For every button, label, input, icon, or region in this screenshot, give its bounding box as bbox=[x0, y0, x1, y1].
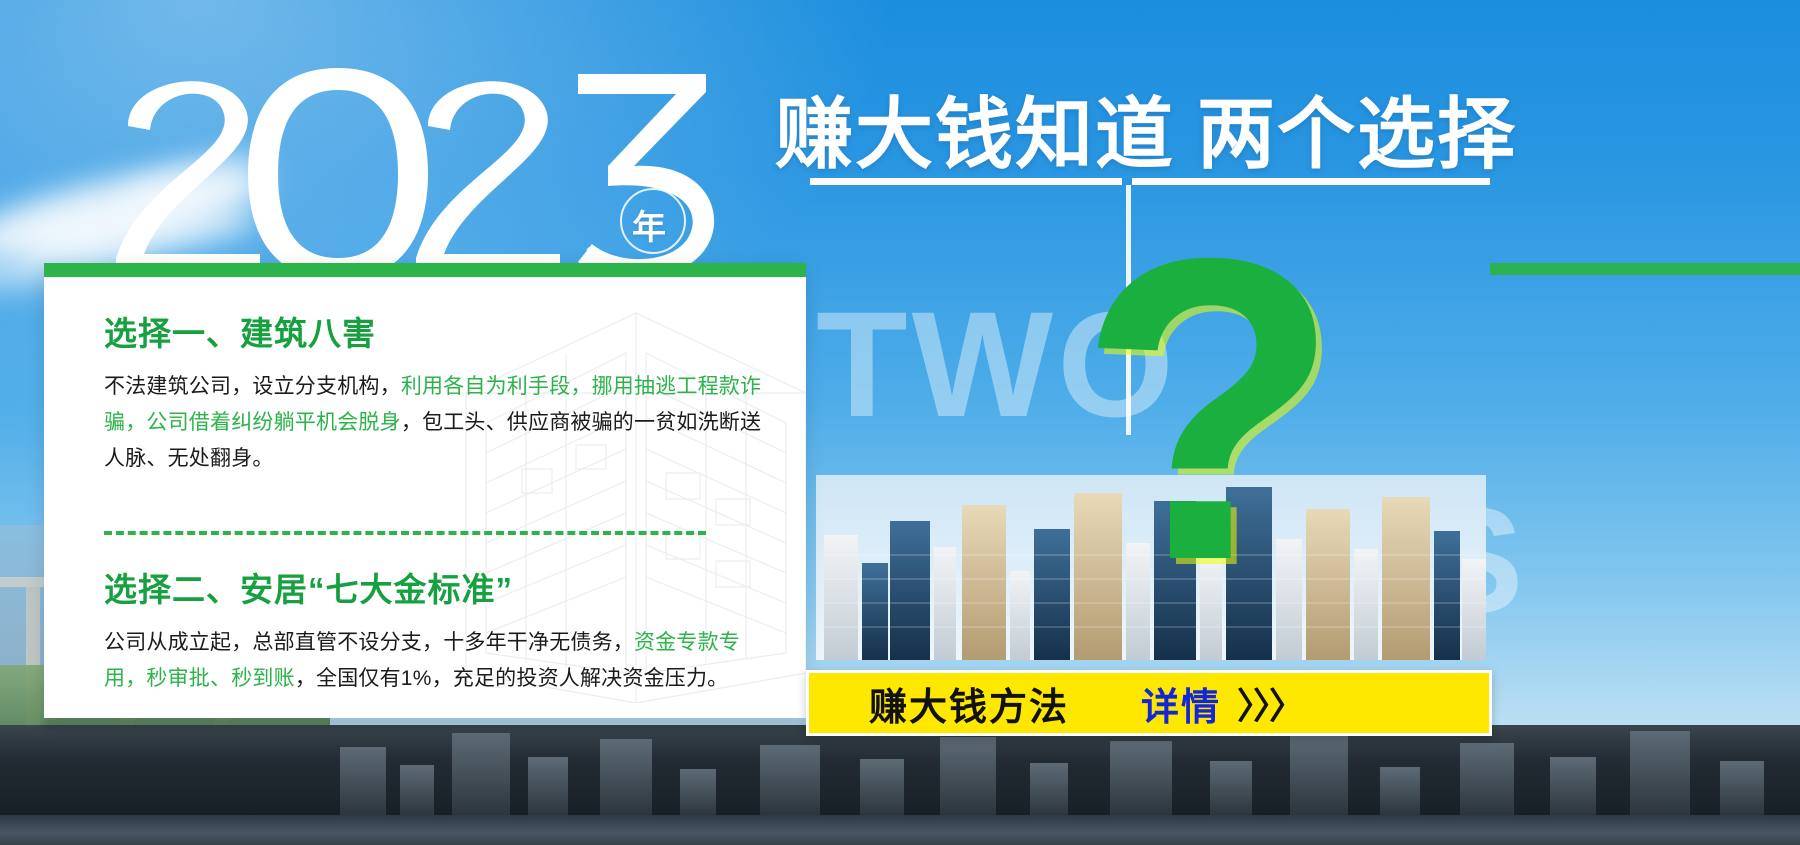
building-silhouette bbox=[940, 737, 996, 817]
building-silhouette bbox=[1550, 757, 1596, 817]
green-edge-accent bbox=[1490, 263, 1800, 275]
building-silhouette bbox=[600, 739, 652, 817]
building-silhouette bbox=[1460, 743, 1514, 817]
chevron-right-icon: 〉〉〉 bbox=[1237, 677, 1303, 729]
building-silhouette bbox=[1210, 761, 1252, 817]
section-one: 选择一、建筑八害 不法建筑公司，设立分支机构，利用各自为利手段，挪用抽逃工程款诈… bbox=[104, 307, 778, 477]
cta-bar[interactable]: 赚大钱方法 详情 〉〉〉 bbox=[806, 670, 1492, 736]
section-two: 选择二、安居“七大金标准” 公司从成立起，总部直管不设分支，十多年干净无债务，资… bbox=[104, 563, 778, 697]
year-suffix-circle bbox=[620, 188, 686, 254]
building-silhouette bbox=[1030, 763, 1068, 817]
question-mark-icon: ? bbox=[1078, 195, 1341, 625]
right-visual-panel: TWO CHOICES bbox=[810, 185, 1490, 660]
section-one-title: 选择一、建筑八害 bbox=[104, 307, 778, 355]
building-silhouette bbox=[760, 745, 820, 817]
section-two-text-a: 公司从成立起，总部直管不设分支，十多年干净无债务， bbox=[104, 631, 634, 654]
card-shadow bbox=[44, 718, 806, 728]
building-silhouette bbox=[400, 765, 434, 817]
section-two-text-c: ，全国仅有1%，充足的投资人解决资金压力。 bbox=[295, 667, 729, 690]
promo-banner: 年 赚大钱知道两个选择 TWO CHOICES bbox=[0, 0, 1800, 845]
card-top-green-bar bbox=[44, 263, 806, 277]
headline-part-2: 两个选择 bbox=[1197, 90, 1517, 178]
building-silhouette bbox=[452, 733, 510, 817]
building-silhouette bbox=[340, 747, 386, 817]
building-silhouette bbox=[1720, 761, 1764, 817]
water-reflection bbox=[0, 815, 1800, 845]
year-suffix: 年 bbox=[632, 200, 667, 249]
building-silhouette bbox=[1380, 767, 1420, 817]
section-two-body: 公司从成立起，总部直管不设分支，十多年干净无债务，资金专款专用，秒审批、秒到账，… bbox=[104, 625, 778, 697]
building-silhouette bbox=[1290, 735, 1348, 817]
content-card: 选择一、建筑八害 不法建筑公司，设立分支机构，利用各自为利手段，挪用抽逃工程款诈… bbox=[44, 263, 806, 718]
building-silhouette bbox=[1110, 741, 1172, 817]
building-silhouette bbox=[1630, 731, 1690, 817]
building-silhouette bbox=[528, 757, 568, 817]
headline-part-1: 赚大钱知道 bbox=[775, 90, 1175, 178]
section-one-body: 不法建筑公司，设立分支机构，利用各自为利手段，挪用抽逃工程款诈骗，公司借着纠纷躺… bbox=[104, 369, 778, 477]
section-divider bbox=[104, 531, 706, 535]
cta-main-label: 赚大钱方法 bbox=[869, 676, 1069, 731]
section-one-text-a: 不法建筑公司，设立分支机构， bbox=[104, 375, 401, 398]
building-silhouette bbox=[860, 759, 904, 817]
city-skyline-strip bbox=[0, 725, 1800, 845]
page-title: 赚大钱知道两个选择 bbox=[775, 72, 1517, 184]
section-two-title: 选择二、安居“七大金标准” bbox=[104, 563, 778, 611]
building-silhouette bbox=[680, 769, 716, 817]
cta-more-link[interactable]: 详情 bbox=[1141, 676, 1221, 731]
